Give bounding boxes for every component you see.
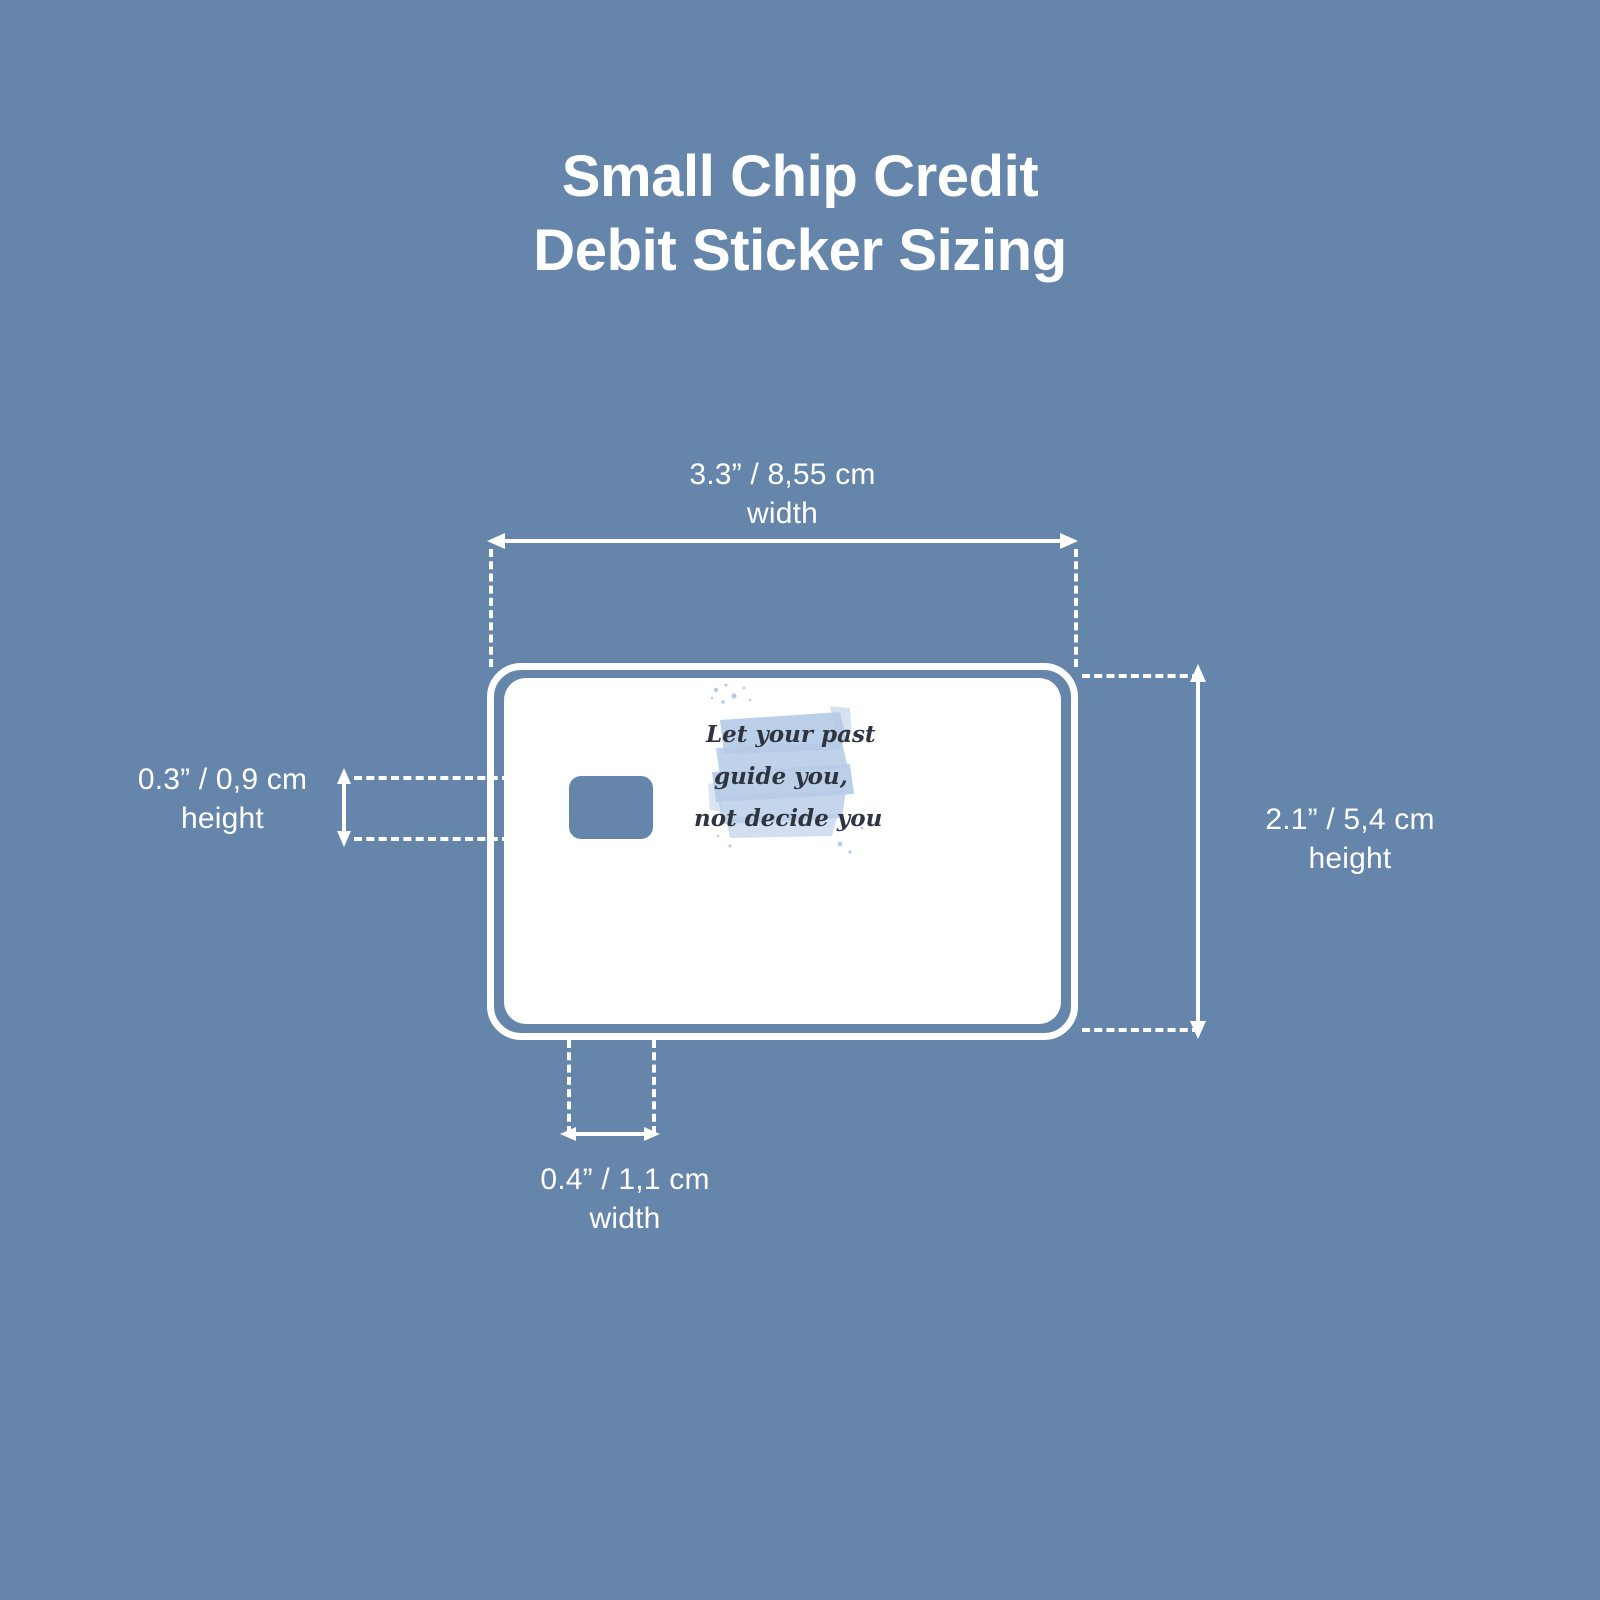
sticker-quote: Let your past guide you, not decide you. [694,721,882,832]
chip-width-axis: width [455,1199,795,1238]
chip-height-arrow [334,768,354,847]
chip-width-arrow [560,1124,660,1144]
quote-line-2: guide you, [714,763,848,790]
card-width-axis: width [575,494,990,533]
card-width-label: 3.3” / 8,55 cm width [575,455,990,533]
chip-height-extension-top [354,776,510,780]
page-title: Small Chip Credit Debit Sticker Sizing [0,140,1600,288]
chip-width-extension-left [567,1040,571,1134]
card-width-extension-right [1074,549,1078,667]
card-height-extension-bottom [1082,1028,1200,1032]
chip-height-label: 0.3” / 0,9 cm height [80,760,365,838]
chip-height-axis: height [80,799,365,838]
card-height-label: 2.1” / 5,4 cm height [1190,800,1510,878]
chip-cutout [569,776,653,839]
quote-line-1: Let your past [705,721,876,748]
quote-line-3: not decide you. [694,805,882,832]
card-height-extension-top [1082,674,1200,678]
card-width-extension-left [489,549,493,667]
chip-height-extension-bottom [354,837,510,841]
sticker-artwork: Let your past guide you, not decide you. [690,676,882,866]
card-height-axis: height [1190,839,1510,878]
chip-width-extension-right [652,1040,656,1134]
card-width-value: 3.3” / 8,55 cm [689,458,875,491]
sticker-sizing-diagram: Small Chip Credit Debit Sticker Sizing 3… [0,0,1600,1600]
card-height-value: 2.1” / 5,4 cm [1265,803,1434,836]
chip-width-label: 0.4” / 1,1 cm width [455,1160,795,1238]
card-width-arrow [487,531,1078,551]
chip-width-value: 0.4” / 1,1 cm [540,1163,709,1196]
chip-height-value: 0.3” / 0,9 cm [138,763,307,796]
